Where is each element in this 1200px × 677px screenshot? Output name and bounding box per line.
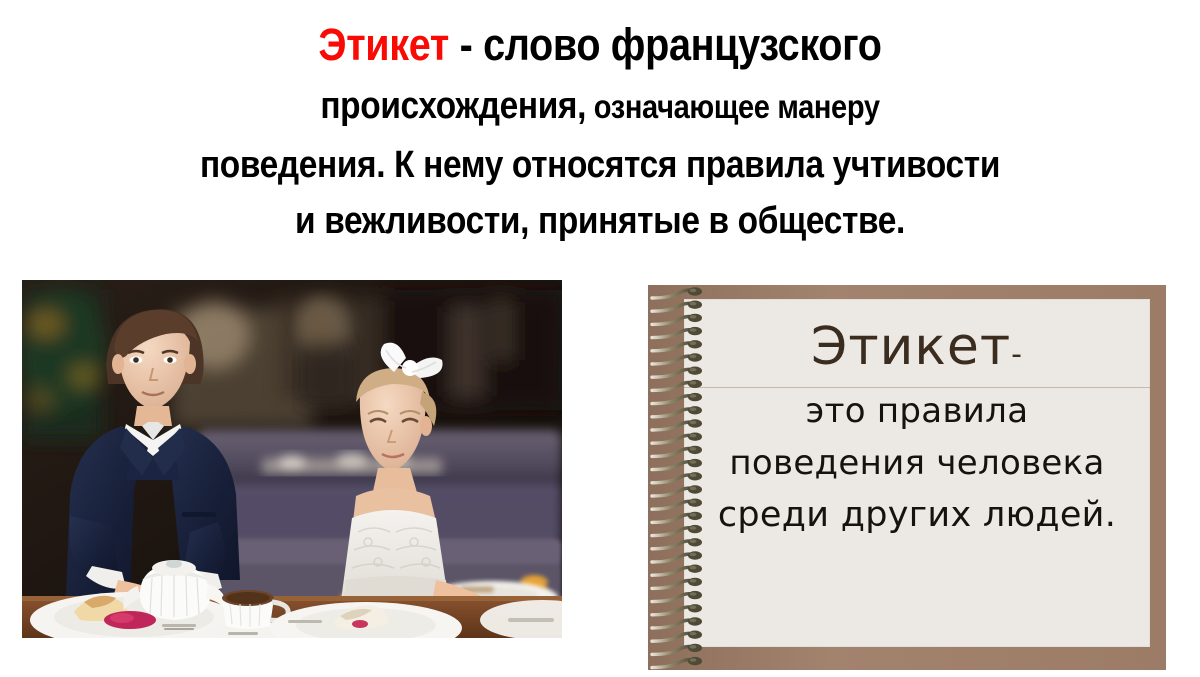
- notebook-title-dash: -: [1011, 337, 1023, 372]
- photo-illustration: [22, 280, 562, 638]
- notebook-paper: Этикет- это правила поведения человека с…: [684, 299, 1150, 647]
- notebook-title: Этикет-: [692, 317, 1142, 385]
- notebook-definition-card: Этикет- это правила поведения человека с…: [648, 285, 1166, 670]
- heading-line-3: поведения. К нему относятся правила учти…: [72, 137, 1128, 193]
- restaurant-etiquette-photo: [22, 280, 562, 638]
- slide-heading: Этикет - слово французского происхождени…: [0, 0, 1200, 249]
- notebook-line-1: это правила: [692, 385, 1142, 437]
- heading-line-4: и вежливости, принятые в обществе.: [72, 193, 1128, 249]
- heading-line-1-rest: - слово французского: [449, 19, 882, 70]
- heading-line-2: происхождения, означающее манеру: [72, 73, 1128, 137]
- heading-line-2-emphasis: происхождения,: [320, 85, 586, 127]
- notebook-line-2: поведения человека: [692, 437, 1142, 489]
- heading-keyword-etiquette: Этикет: [318, 19, 449, 70]
- notebook-line-3: среди других людей.: [692, 489, 1142, 541]
- heading-line-1: Этикет - слово французского: [72, 16, 1128, 73]
- notebook-text-block: Этикет- это правила поведения человека с…: [692, 317, 1142, 541]
- notebook-title-word: Этикет: [811, 317, 1011, 377]
- heading-line-2-tail: означающее манеру: [586, 88, 880, 125]
